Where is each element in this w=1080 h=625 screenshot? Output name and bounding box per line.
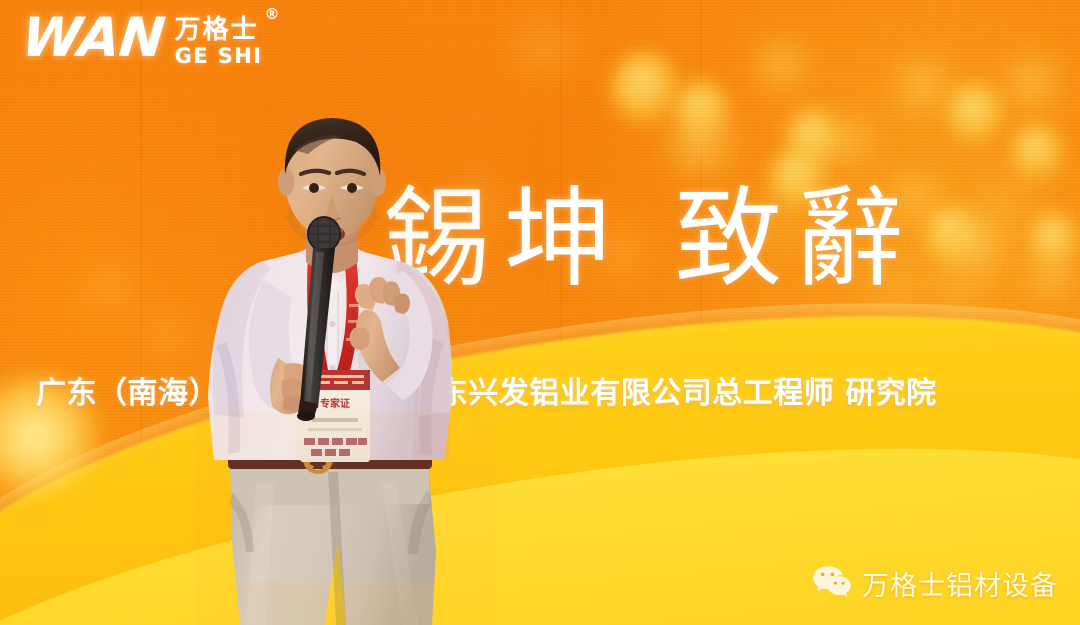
watermark-label: 万格士铝材设备 <box>862 564 1058 603</box>
bokeh-light <box>1012 124 1062 182</box>
bokeh-light <box>1010 58 1056 112</box>
bokeh-light <box>828 118 870 168</box>
bokeh-light <box>900 60 946 116</box>
bokeh-light <box>672 112 736 178</box>
bokeh-light <box>520 24 572 74</box>
bokeh-light <box>150 318 186 358</box>
bokeh-light <box>940 262 980 310</box>
brand-latin-sub: GE SHI <box>175 44 263 68</box>
wechat-icon <box>812 565 852 602</box>
brand-logo: WAN 万格士 GE SHI ® <box>22 12 262 68</box>
bokeh-light <box>948 82 1002 146</box>
bokeh-light <box>760 42 804 92</box>
bokeh-light <box>612 52 678 126</box>
brand-chinese-mark: 万格士 <box>175 17 263 44</box>
conference-photo: 錫坤 致辭 广东（南海）铝...盟专家、广东兴发铝业有限公司总工程师 研究院 <box>0 0 1080 625</box>
brand-latin-mark: WAN <box>19 12 166 65</box>
brand-chinese-block: 万格士 GE SHI ® <box>175 12 263 68</box>
wechat-watermark: 万格士铝材设备 <box>812 564 1058 603</box>
bokeh-light <box>1032 252 1074 302</box>
bokeh-light <box>90 268 130 312</box>
stage-speaker: 专家证 <box>196 112 496 625</box>
registered-trademark-icon: ® <box>264 5 279 23</box>
